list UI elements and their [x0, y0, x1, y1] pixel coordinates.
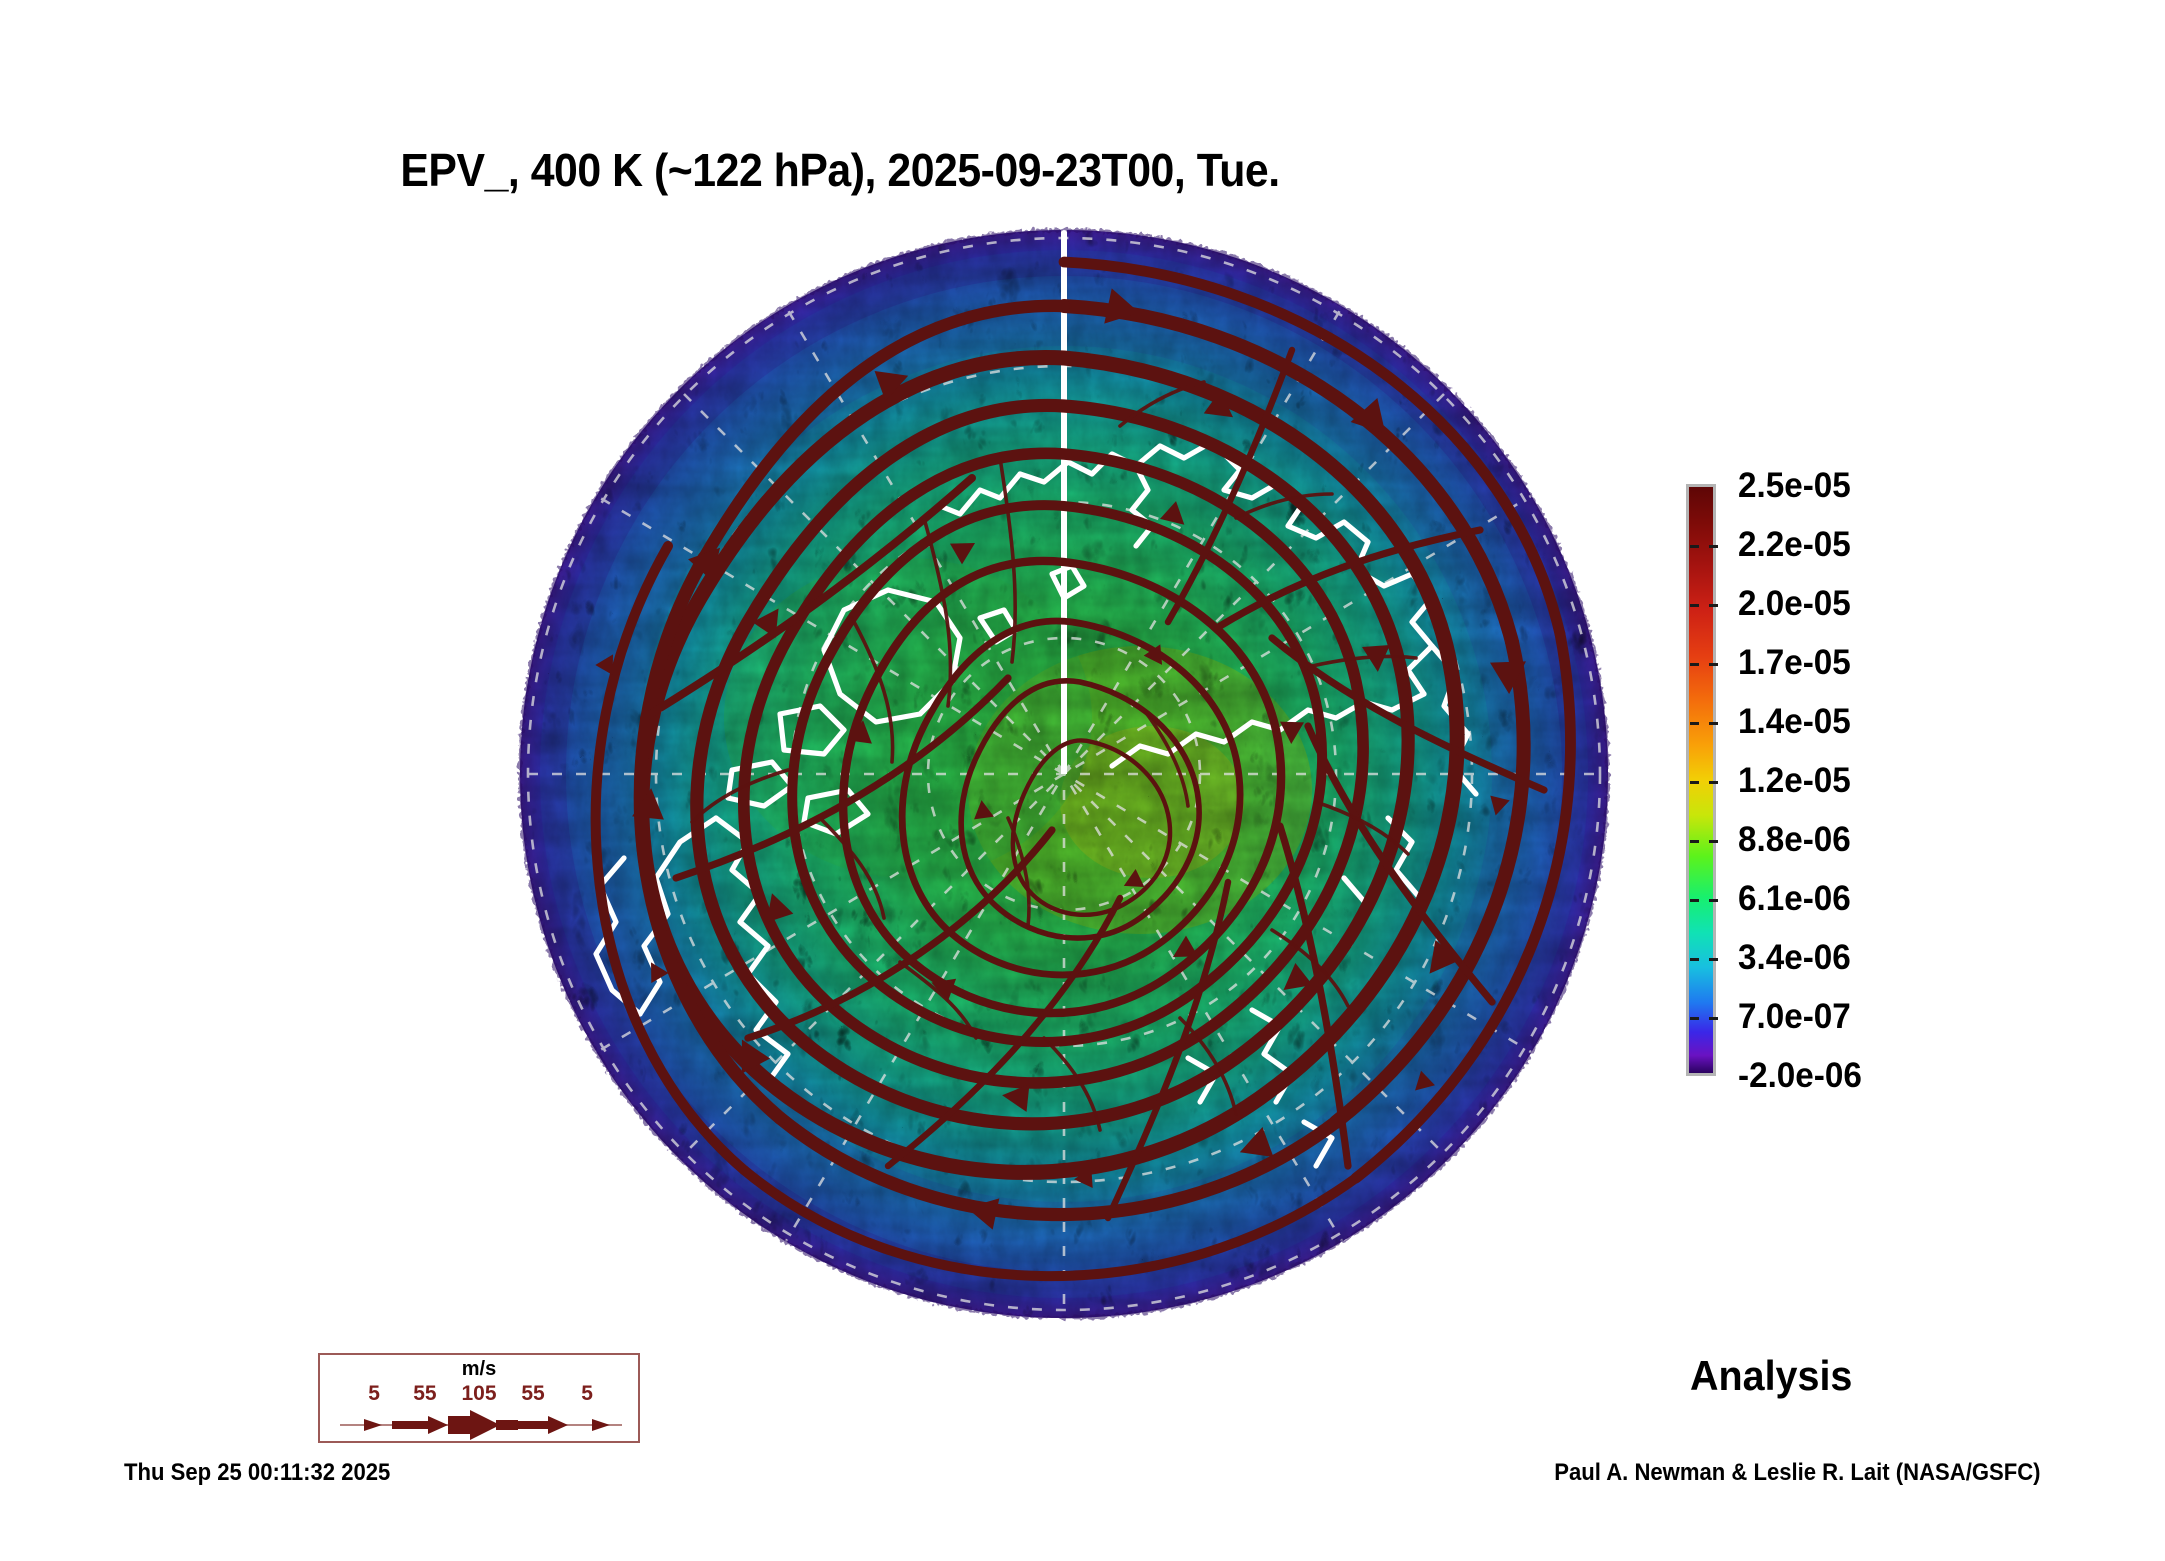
colorbar-tick [1690, 958, 1699, 961]
colorbar-tick [1709, 722, 1718, 725]
colorbar-tick [1709, 840, 1718, 843]
colorbar-label: 2.5e-05 [1738, 468, 1851, 503]
wind-legend-value: 5 [368, 1383, 380, 1404]
page-title: EPV_, 400 K (~122 hPa), 2025-09-23T00, T… [59, 143, 1621, 197]
colorbar-tick [1690, 722, 1699, 725]
colorbar-tick [1690, 840, 1699, 843]
colorbar-tick [1690, 781, 1699, 784]
colorbar-label: 3.4e-06 [1738, 940, 1851, 975]
colorbar-tick [1709, 545, 1718, 548]
colorbar-label: 1.7e-05 [1738, 645, 1851, 680]
colorbar-tick [1690, 545, 1699, 548]
colorbar-label: -2.0e-06 [1738, 1058, 1862, 1093]
colorbar-tick [1690, 663, 1699, 666]
colorbar-label: 2.0e-05 [1738, 586, 1851, 621]
colorbar-label: 1.4e-05 [1738, 704, 1851, 739]
wind-legend-values: 5 55 105 55 5 [320, 1383, 638, 1407]
polar-map [508, 218, 1620, 1330]
colorbar-tick [1690, 899, 1699, 902]
colorbar-tick [1709, 958, 1718, 961]
colorbar-label: 2.2e-05 [1738, 527, 1851, 562]
wind-legend-arrows [320, 1407, 638, 1443]
render-timestamp: Thu Sep 25 00:11:32 2025 [124, 1459, 390, 1487]
wind-legend-value: 55 [521, 1383, 544, 1404]
colorbar-tick [1709, 604, 1718, 607]
colorbar-label: 6.1e-06 [1738, 881, 1851, 916]
wind-legend-value: 55 [413, 1383, 436, 1404]
author-credit: Paul A. Newman & Leslie R. Lait (NASA/GS… [1555, 1459, 2041, 1487]
colorbar-tick [1709, 899, 1718, 902]
colorbar-tick [1709, 1017, 1718, 1020]
colorbar-labels: 2.5e-05 2.2e-05 2.0e-05 1.7e-05 1.4e-05 … [1738, 484, 1968, 1076]
colorbar-label: 8.8e-06 [1738, 822, 1851, 857]
colorbar-tick [1709, 663, 1718, 666]
colorbar-label: 7.0e-07 [1738, 999, 1851, 1034]
colorbar-tick [1690, 1017, 1699, 1020]
colorbar-label: 1.2e-05 [1738, 763, 1851, 798]
wind-legend-value: 105 [461, 1383, 496, 1404]
analysis-label: Analysis [1690, 1352, 1852, 1400]
wind-legend-value: 5 [581, 1383, 593, 1404]
wind-legend-unit: m/s [320, 1359, 638, 1379]
colorbar-gradient [1686, 484, 1716, 1076]
wind-speed-legend: m/s 5 55 105 55 5 [318, 1353, 640, 1443]
colorbar-tick [1690, 604, 1699, 607]
colorbar-tick [1709, 781, 1718, 784]
